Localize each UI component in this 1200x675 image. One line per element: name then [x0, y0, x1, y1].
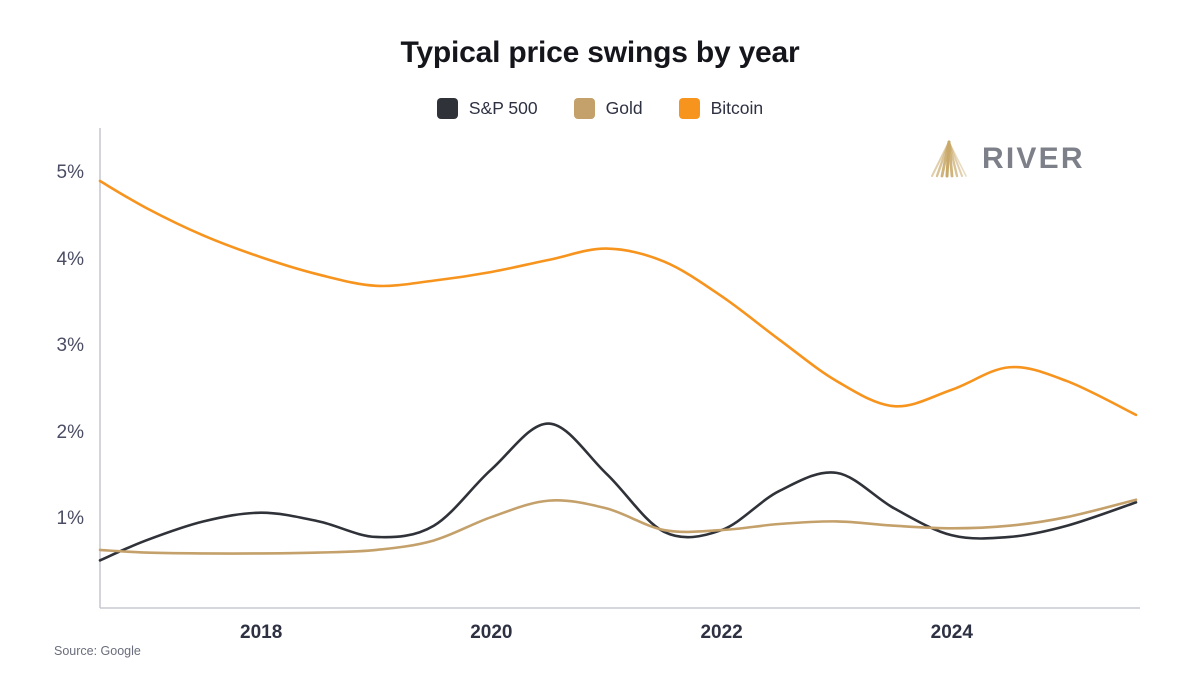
chart-card: Typical price swings by year S&P 500Gold…: [0, 0, 1200, 675]
brand-wordmark: RIVER: [982, 142, 1085, 176]
x-axis-tick-label: 2024: [931, 622, 973, 644]
x-axis-tick-label: 2018: [240, 622, 282, 644]
x-axis-tick-label: 2020: [470, 622, 512, 644]
river-fan-icon: [928, 140, 970, 178]
x-axis: 2018202020222024: [0, 0, 1200, 675]
brand-logo: RIVER: [928, 140, 1085, 178]
source-note: Source: Google: [54, 644, 141, 658]
x-axis-tick-label: 2022: [700, 622, 742, 644]
